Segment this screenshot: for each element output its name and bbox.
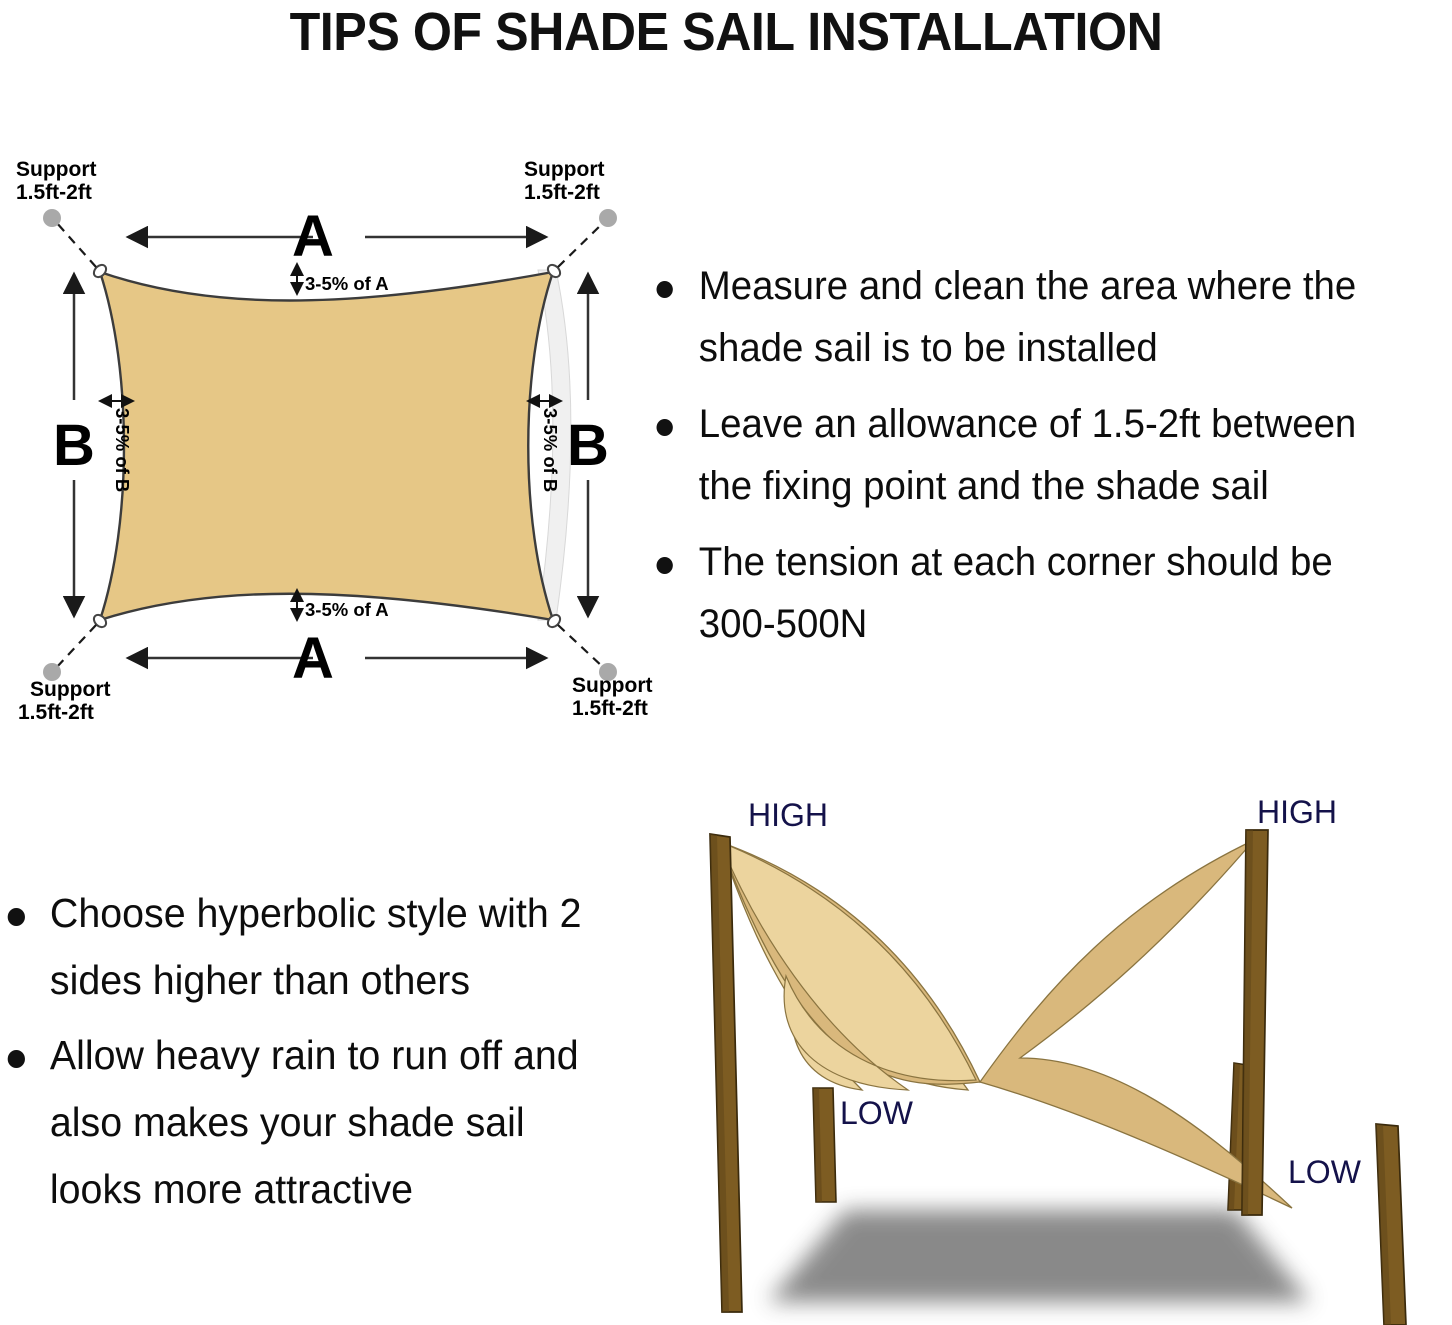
curvature-label-left: 3-5% of B [112,408,133,492]
tips-bullet-list: Measure and clean the area where the sha… [645,255,1452,655]
tie-line-bottom-right [558,625,604,668]
page-title: TIPS OF SHADE SAIL INSTALLATION [51,2,1401,62]
rectangle-sail-svg: Support 1.5ft-2ft Support 1.5ft-2ft Supp… [0,150,660,750]
bullet-dot-icon [657,419,673,436]
style-bullet-list: Choose hyperbolic style with 2 sides hig… [0,880,640,1223]
post-label-right-high: HIGH [1257,794,1337,830]
support-label-bottom-left-line1: Support [30,678,110,701]
rectangle-sail-diagram: Support 1.5ft-2ft Support 1.5ft-2ft Supp… [0,150,660,750]
ground-shadow [768,1210,1310,1302]
bullet-dot-icon [657,557,673,574]
support-dot-top-right [599,209,617,227]
bullet-dot-icon [8,908,25,926]
support-label-top-left-line2: 1.5ft-2ft [16,181,92,204]
support-label-top-right-line1: Support [524,158,604,181]
hyperbolic-sail-illustration: HIGH HIGH LOW LOW [650,790,1452,1325]
dimension-label-B-left: B [53,413,95,478]
list-item-text: Measure and clean the area where the sha… [699,264,1356,370]
tie-line-top-left [56,222,96,267]
tie-line-bottom-left [56,625,96,668]
dimension-label-A-bottom: A [292,626,334,691]
list-item-text: Choose hyperbolic style with 2 sides hig… [50,890,582,1003]
support-label-bottom-left-line2: 1.5ft-2ft [18,701,94,724]
curvature-label-top: 3-5% of A [305,273,389,294]
support-label-bottom-right-line2: 1.5ft-2ft [572,697,648,720]
list-item-text: Allow heavy rain to run off and also mak… [50,1032,579,1212]
list-item: Choose hyperbolic style with 2 sides hig… [0,880,614,1014]
hyperbolic-sail-svg: HIGH HIGH LOW LOW [650,790,1452,1325]
curvature-label-right: 3-5% of B [540,408,561,492]
sail-left-highlight [720,842,976,1090]
bullet-dot-icon [657,281,673,298]
hyperbolic-style-list: Choose hyperbolic style with 2 sides hig… [0,880,640,1240]
tie-line-top-right [558,222,604,267]
list-item: Allow heavy rain to run off and also mak… [0,1022,614,1223]
list-item: The tension at each corner should be 300… [645,531,1420,655]
curvature-label-bottom: 3-5% of A [305,599,389,620]
list-item: Leave an allowance of 1.5-2ft between th… [645,393,1420,517]
list-item: Measure and clean the area where the sha… [645,255,1420,379]
post-label-left-high: HIGH [748,797,828,833]
post-label-left-low: LOW [840,1095,914,1131]
support-label-bottom-right-line1: Support [572,674,652,697]
support-label-top-right-line2: 1.5ft-2ft [524,181,600,204]
post-label-right-low: LOW [1288,1154,1362,1190]
bullet-dot-icon [8,1050,25,1068]
dimension-label-A-top: A [292,204,334,269]
shade-sail-shape [100,272,553,620]
list-item-text: Leave an allowance of 1.5-2ft between th… [699,402,1357,508]
installation-tips-list: Measure and clean the area where the sha… [645,255,1452,675]
dimension-label-B-right: B [567,413,609,478]
list-item-text: The tension at each corner should be 300… [699,540,1333,646]
support-dot-top-left [43,209,61,227]
support-label-top-left-line1: Support [16,158,96,181]
